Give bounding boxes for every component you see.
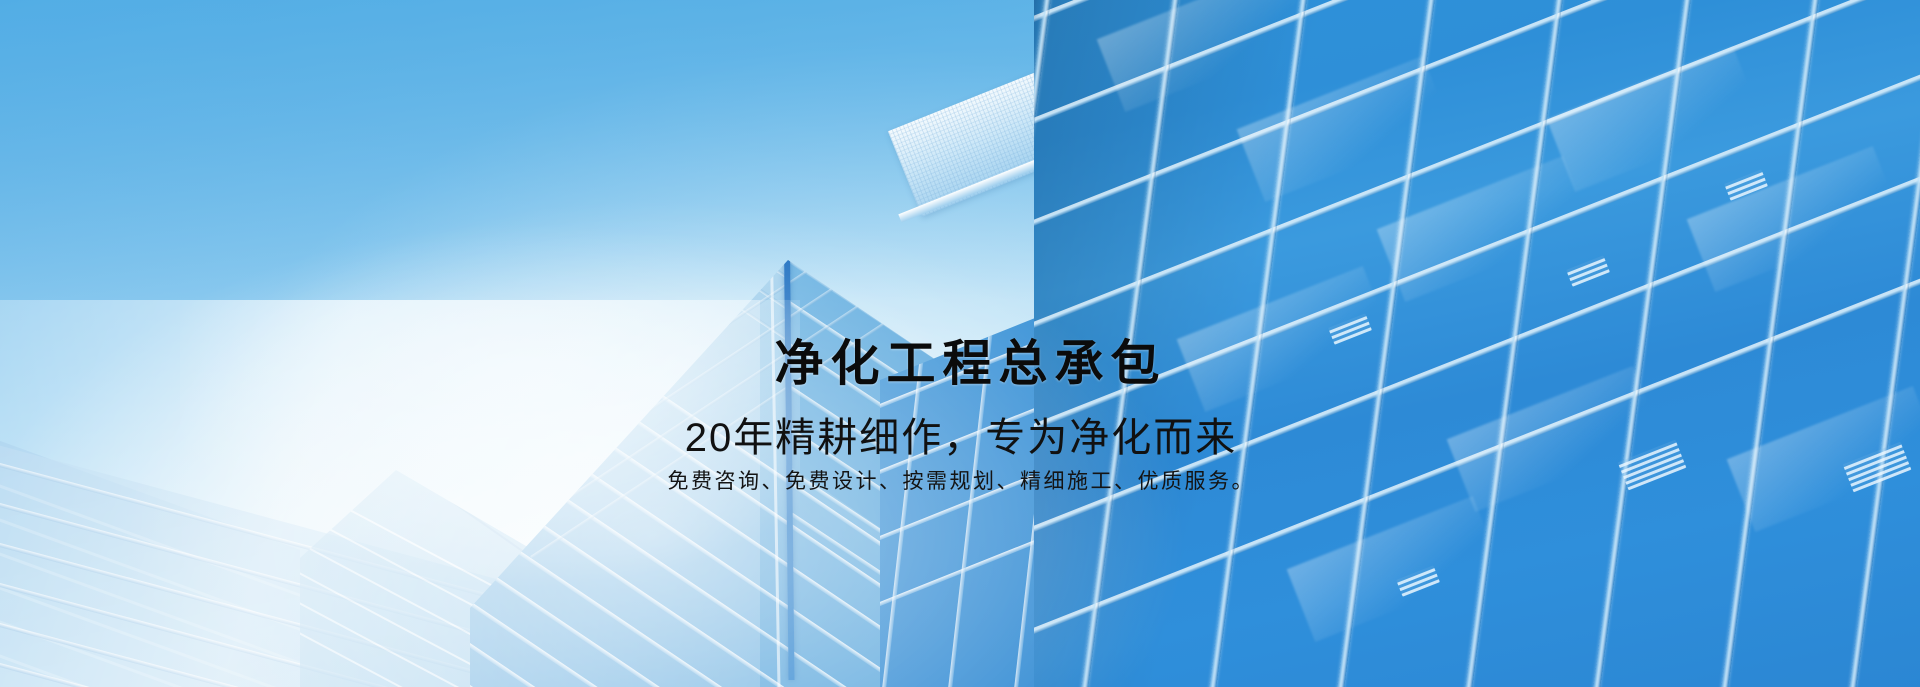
hero-banner: 净化工程总承包 20年精耕细作，专为净化而来 免费咨询、免费设计、按需规划、精细… bbox=[0, 0, 1920, 687]
right-tower-facade bbox=[1034, 0, 1920, 687]
right-tower-body bbox=[1034, 0, 1920, 687]
